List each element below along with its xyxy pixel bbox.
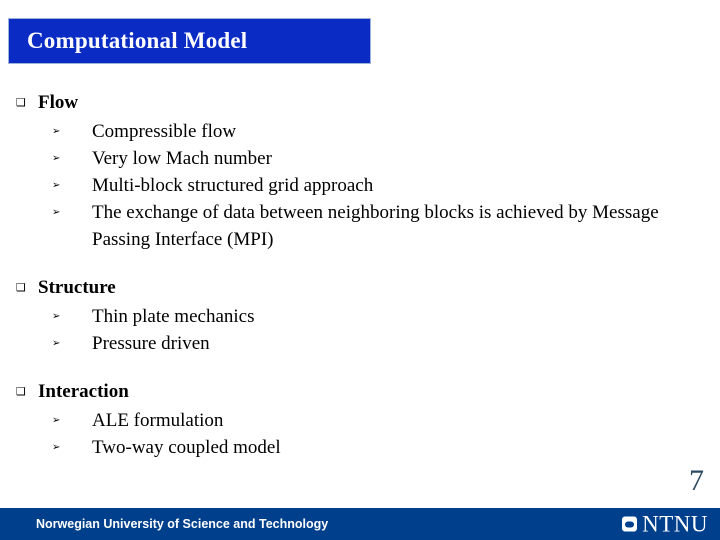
list-item-text: Pressure driven — [92, 330, 210, 357]
bullet-level1-label: Flow — [38, 90, 78, 116]
page-number: 7 — [689, 466, 704, 496]
list-item: ➢ The exchange of data between neighbori… — [0, 199, 720, 253]
list-item-text: The exchange of data between neighboring… — [92, 199, 720, 253]
list-item: ➢ Two-way coupled model — [0, 434, 720, 461]
square-bullet-icon: ❑ — [16, 275, 38, 301]
organization-name: Norwegian University of Science and Tech… — [36, 517, 328, 531]
slide-title-bar: Computational Model — [8, 18, 371, 64]
bullet-group-interaction: ❑ Interaction ➢ ALE formulation ➢ Two-wa… — [0, 379, 720, 461]
bullet-level1-label: Interaction — [38, 379, 129, 405]
arrow-bullet-icon: ➢ — [52, 199, 92, 226]
arrow-bullet-icon: ➢ — [52, 434, 92, 461]
list-item: ➢ Multi-block structured grid approach — [0, 172, 720, 199]
list-item-text: Multi-block structured grid approach — [92, 172, 373, 199]
list-item-text: Very low Mach number — [92, 145, 272, 172]
list-item: ➢ Pressure driven — [0, 330, 720, 357]
page-title: Computational Model — [27, 28, 247, 54]
slide-body: ❑ Flow ➢ Compressible flow ➢ Very low Ma… — [0, 90, 720, 461]
ntnu-mark-icon — [622, 517, 637, 532]
bullet-group-structure: ❑ Structure ➢ Thin plate mechanics ➢ Pre… — [0, 275, 720, 357]
group-spacer — [0, 357, 720, 379]
list-item: ➢ Thin plate mechanics — [0, 303, 720, 330]
arrow-bullet-icon: ➢ — [52, 407, 92, 434]
arrow-bullet-icon: ➢ — [52, 172, 92, 199]
list-item-text: ALE formulation — [92, 407, 223, 434]
square-bullet-icon: ❑ — [16, 379, 38, 405]
list-item-text: Thin plate mechanics — [92, 303, 255, 330]
arrow-bullet-icon: ➢ — [52, 303, 92, 330]
arrow-bullet-icon: ➢ — [52, 118, 92, 145]
list-item: ➢ Compressible flow — [0, 118, 720, 145]
group-spacer — [0, 253, 720, 275]
ntnu-logo: NTNU — [622, 513, 708, 536]
square-bullet-icon: ❑ — [16, 90, 38, 116]
bullet-level1-interaction: ❑ Interaction — [0, 379, 720, 405]
bullet-level1-structure: ❑ Structure — [0, 275, 720, 301]
list-item-text: Compressible flow — [92, 118, 236, 145]
bullet-level1-label: Structure — [38, 275, 116, 301]
bullet-group-flow: ❑ Flow ➢ Compressible flow ➢ Very low Ma… — [0, 90, 720, 253]
list-item-text: Two-way coupled model — [92, 434, 281, 461]
arrow-bullet-icon: ➢ — [52, 330, 92, 357]
arrow-bullet-icon: ➢ — [52, 145, 92, 172]
slide-footer: Norwegian University of Science and Tech… — [0, 508, 720, 540]
bullet-level1-flow: ❑ Flow — [0, 90, 720, 116]
list-item: ➢ Very low Mach number — [0, 145, 720, 172]
ntnu-wordmark: NTNU — [642, 513, 708, 536]
list-item: ➢ ALE formulation — [0, 407, 720, 434]
